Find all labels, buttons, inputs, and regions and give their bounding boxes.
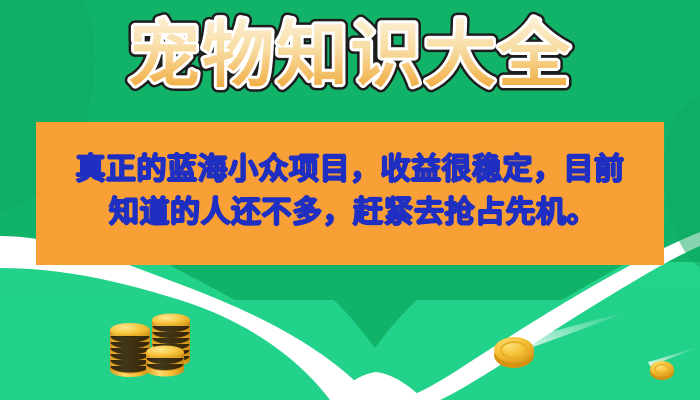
headline-line-2: 知道的人还不多，赶紧去抢占先机。 (103, 192, 597, 235)
coin-stack-front (146, 346, 184, 377)
gold-coin-stack-icon (100, 308, 200, 382)
poster-canvas: 宠物知识大全 宠物知识大全 宠物知识大全 真正的蓝海小众项目，收益很稳定，目前 … (0, 0, 700, 400)
headline-line-1: 真正的蓝海小众项目，收益很稳定，目前 (76, 149, 625, 192)
coin-stack-left (110, 323, 150, 377)
headline-banner: 真正的蓝海小众项目，收益很稳定，目前 知道的人还不多，赶紧去抢占先机。 (36, 122, 664, 265)
flying-coin-large-icon (492, 327, 602, 373)
flying-coin-small-icon (620, 352, 696, 384)
